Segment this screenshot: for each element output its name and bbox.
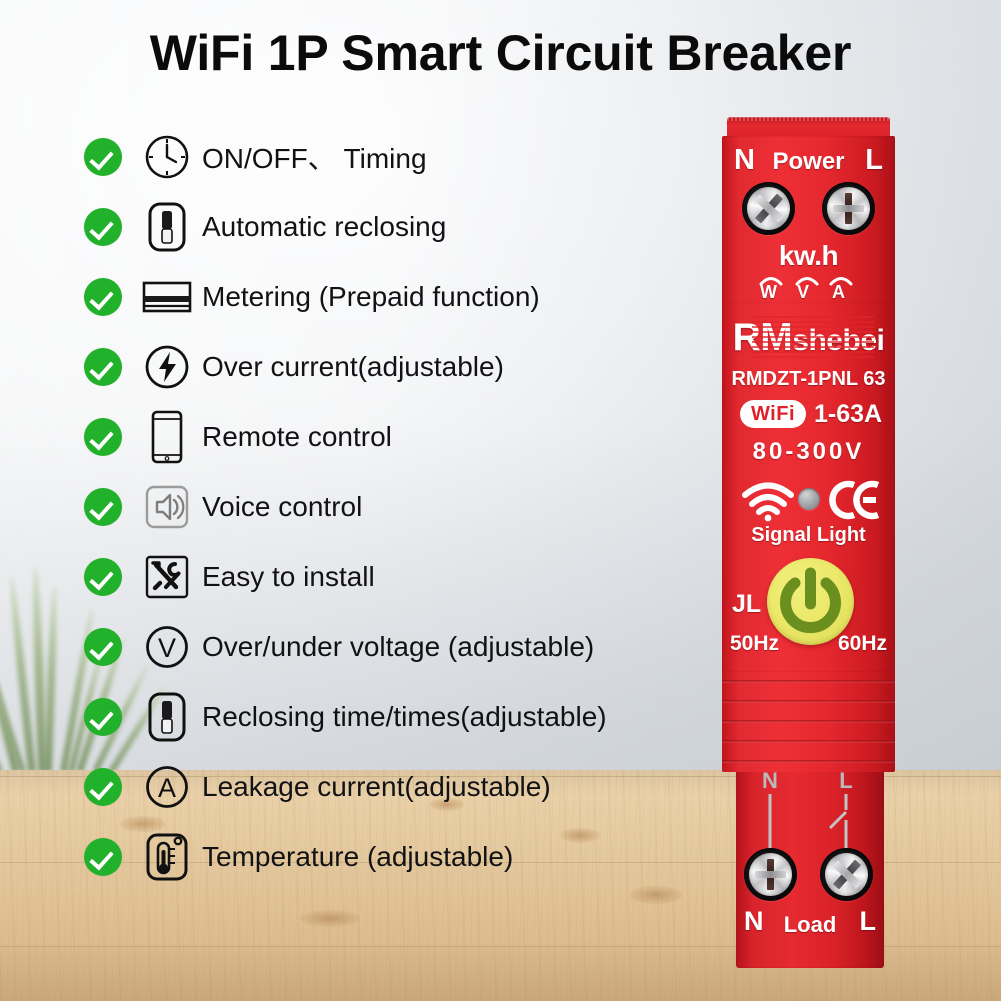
energy-unit-label: kw.h <box>722 240 895 272</box>
signal-light-led <box>798 488 820 510</box>
voltage-rating: 80-300V <box>722 438 895 466</box>
device-power-section: N Power L kw.h W V <box>722 136 895 307</box>
load-label-l: L <box>860 906 877 937</box>
screw-slot-horizontal <box>755 871 786 878</box>
screw-head <box>747 187 790 230</box>
product-device: N L N Load L <box>718 112 900 914</box>
power-label-l: L <box>865 144 883 177</box>
feature-label: Temperature (adjustable) <box>202 841 513 873</box>
product-image-canvas: WiFi 1P Smart Circuit Breaker ON/OFF、 Ti… <box>0 0 1001 1001</box>
jl-mark: JL <box>732 590 761 619</box>
screw-slot-horizontal <box>833 205 864 212</box>
feature-list: ON/OFF、 TimingAutomatic reclosingMeterin… <box>84 122 704 892</box>
feature-label: Remote control <box>202 421 392 453</box>
feature-label: Leakage current(adjustable) <box>202 771 551 803</box>
check-icon <box>84 208 122 246</box>
meter-icon <box>138 273 196 321</box>
power-terminal-screw-n <box>742 182 795 235</box>
thermometer-icon <box>138 833 196 881</box>
device-rib <box>722 740 895 743</box>
lightning-bolt-icon <box>138 343 196 391</box>
feature-label: Metering (Prepaid function) <box>202 281 540 313</box>
toggle-switch-icon <box>138 203 196 251</box>
wifi-icon <box>742 482 794 520</box>
feature-row: Reclosing time/times(adjustable) <box>84 682 704 752</box>
device-rib <box>722 760 895 763</box>
feature-label: ON/OFF、 Timing <box>202 137 427 177</box>
feature-label: Easy to install <box>202 561 375 593</box>
feature-row: ON/OFF、 Timing <box>84 122 704 192</box>
feature-label: Reclosing time/times(adjustable) <box>202 701 607 733</box>
check-icon <box>84 488 122 526</box>
device-rib-band <box>722 668 895 772</box>
wifi-badge: WiFi <box>740 400 806 428</box>
brand-logo-bold: RM <box>733 316 793 359</box>
current-rating: 1-63A <box>814 400 882 429</box>
feature-label: Over/under voltage (adjustable) <box>202 631 594 663</box>
feature-row: Metering (Prepaid function) <box>84 262 704 332</box>
feature-row: ALeakage current(adjustable) <box>84 752 704 822</box>
page-title: WiFi 1P Smart Circuit Breaker <box>0 24 1001 82</box>
ammeter-icon: A <box>138 763 196 811</box>
brand-logo: RMshebei <box>722 316 895 360</box>
toggle-switch-icon <box>138 693 196 741</box>
check-icon <box>84 138 122 176</box>
clock-icon <box>138 133 196 181</box>
feature-row: Over current(adjustable) <box>84 332 704 402</box>
check-icon <box>84 418 122 456</box>
svg-text:V: V <box>158 633 176 663</box>
brand-logo-light: shebei <box>792 324 884 357</box>
measure-label-a: A <box>832 282 845 303</box>
tools-icon <box>138 553 196 601</box>
screw-head <box>749 853 792 896</box>
device-load-section: N L N Load L <box>736 766 884 968</box>
measure-label-v: V <box>797 282 809 303</box>
screw-head <box>825 853 868 896</box>
feature-label: Over current(adjustable) <box>202 351 504 383</box>
measure-label-w: W <box>760 282 777 303</box>
load-terminal-screw-l <box>820 848 873 901</box>
feature-label: Voice control <box>202 491 362 523</box>
signal-light-label: Signal Light <box>722 524 895 547</box>
screw-head <box>827 187 870 230</box>
speaker-icon <box>138 483 196 531</box>
check-icon <box>84 628 122 666</box>
frequency-50hz: 50Hz <box>730 632 779 656</box>
check-icon <box>84 278 122 316</box>
check-icon <box>84 698 122 736</box>
feature-row: VOver/under voltage (adjustable) <box>84 612 704 682</box>
device-rib <box>722 720 895 723</box>
load-terminal-screw-n <box>744 848 797 901</box>
feature-label: Automatic reclosing <box>202 211 446 243</box>
model-number: RMDZT-1PNL 63 <box>722 368 895 391</box>
device-rib <box>722 680 895 683</box>
device-rib <box>722 700 895 703</box>
check-icon <box>84 838 122 876</box>
feature-row: Voice control <box>84 472 704 542</box>
feature-row: Automatic reclosing <box>84 192 704 262</box>
power-terminal-screw-l <box>822 182 875 235</box>
check-icon <box>84 348 122 386</box>
voltmeter-icon: V <box>138 623 196 671</box>
smartphone-icon <box>138 413 196 461</box>
check-icon <box>84 558 122 596</box>
check-icon <box>84 768 122 806</box>
svg-text:A: A <box>158 773 176 803</box>
device-label-section: RMshebei RMDZT-1PNL 63 WiFi 1-63A 80-300… <box>722 302 895 672</box>
feature-row: Easy to install <box>84 542 704 612</box>
frequency-60hz: 60Hz <box>838 632 887 656</box>
feature-row: Temperature (adjustable) <box>84 822 704 892</box>
feature-row: Remote control <box>84 402 704 472</box>
ce-mark-icon <box>834 480 882 520</box>
